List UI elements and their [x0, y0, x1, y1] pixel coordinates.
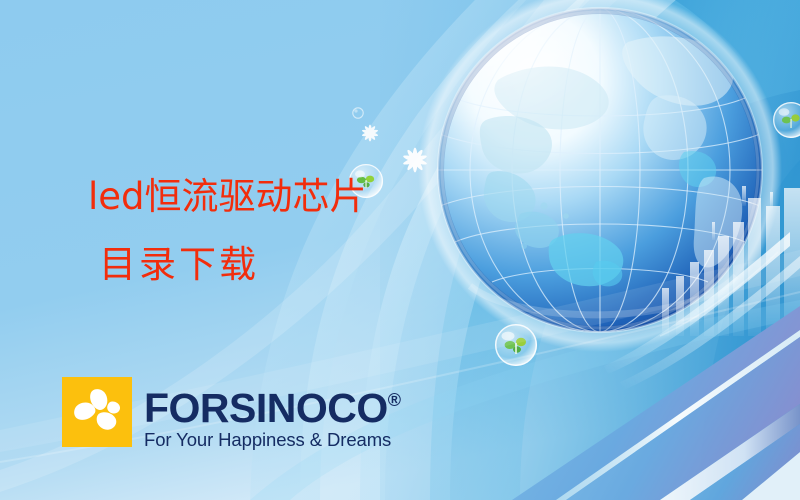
brand-name: FORSINOCO®: [144, 380, 401, 429]
headline: led恒流驱动芯片 目录下载: [88, 163, 367, 299]
forsinoco-pinwheel-mark: [62, 377, 132, 447]
registered-trademark-icon: ®: [388, 390, 401, 410]
logo-wordmark: FORSINOCO® For Your Happiness & Dreams: [144, 377, 401, 450]
headline-line-1: led恒流驱动芯片: [88, 163, 367, 231]
pinwheel-icon: [62, 377, 132, 447]
headline-line-2: 目录下载: [88, 231, 367, 299]
slide-canvas: led恒流驱动芯片 目录下载 FORSINOCO® For Your Happi…: [0, 0, 800, 500]
brand-name-text: FORSINOCO: [144, 385, 388, 431]
brand-tagline: For Your Happiness & Dreams: [144, 430, 401, 450]
brand-logo: FORSINOCO® For Your Happiness & Dreams: [62, 377, 401, 450]
